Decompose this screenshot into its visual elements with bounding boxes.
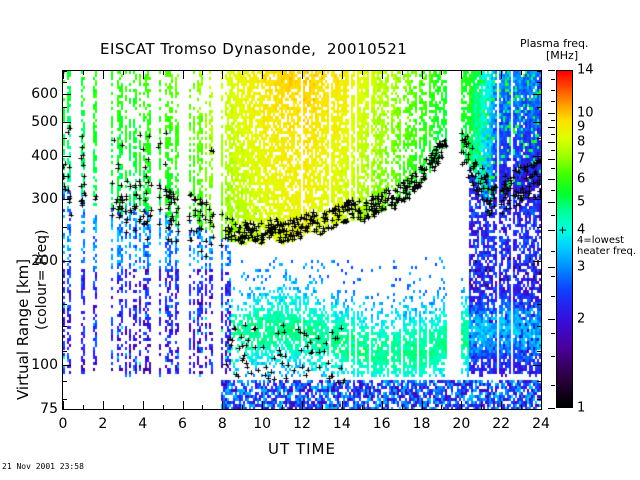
x-tick-mark [541,401,542,410]
x-minor-tick [282,405,283,410]
y-tick-mark-right [533,122,542,123]
x-minor-tick [402,405,403,410]
colorbar-minor-tick [551,276,555,277]
y-minor-tick-right [537,82,542,83]
x-tick-mark-top [382,70,383,79]
x-tick-mark [302,401,303,410]
y-minor-tick [62,326,67,327]
y-minor-tick-right [537,304,542,305]
y-tick-mark-right [533,156,542,157]
colorbar-tick-label: 7 [577,151,585,166]
colorbar-tick-mark [548,113,555,114]
x-minor-tick [242,405,243,410]
colorbar-tick-label: 5 [577,194,585,209]
y-tick-label: 75 [6,401,58,417]
x-minor-tick [362,405,363,410]
x-tick-mark [183,401,184,410]
x-tick-mark [342,401,343,410]
colorbar-tick-label: 2 [577,312,585,327]
x-tick-mark [222,401,223,410]
x-minor-tick [481,405,482,410]
colorbar[interactable] [556,70,573,408]
x-tick-label: 2 [88,416,118,432]
x-tick-label: 24 [526,416,556,432]
y-minor-tick-right [537,326,542,327]
x-tick-mark [63,401,64,410]
y-minor-tick [62,138,67,139]
x-tick-mark-top [461,70,462,79]
colorbar-minor-tick [551,356,555,357]
y-tick-mark-right [533,261,542,262]
colorbar-minor-tick [551,296,555,297]
colorbar-title-line2: [MHz] [520,50,640,62]
colorbar-tick-mark [548,202,555,203]
colorbar-tick-label: 9 [577,119,585,134]
y-tick-mark-right [533,365,542,366]
colorbar-tick-mark [548,230,555,231]
colorbar-tick-mark [548,159,555,160]
colorbar-tick-label: 1 [577,401,585,416]
x-tick-mark [461,401,462,410]
x-tick-mark-top [183,70,184,79]
x-minor-tick-top [163,70,164,75]
colorbar-tick-mark [548,319,555,320]
colorbar-minor-tick [551,134,555,135]
y-minor-tick [62,304,67,305]
colorbar-minor-tick [551,79,555,80]
y-minor-tick [62,82,67,83]
colorbar-tick-label: 3 [577,260,585,275]
x-minor-tick-top [123,70,124,75]
x-minor-tick-top [83,70,84,75]
y-tick-label: 300 [6,191,58,207]
page-title: EISCAT Tromso Dynasonde, 20010521 [100,40,520,58]
y-minor-tick-right [537,351,542,352]
y-tick-mark-right [533,94,542,95]
colorbar-minor-tick [551,101,555,102]
colorbar-minor-tick [551,385,555,386]
timestamp-stamp: 21 Nov 2001 23:58 [2,462,84,471]
y-axis-ticks: 60050040030020010075 [0,0,58,480]
colorbar-minor-tick [551,150,555,151]
y-minor-tick [62,351,67,352]
x-tick-mark [382,401,383,410]
y-tick-label: 200 [6,253,58,269]
x-tick-mark-top [422,70,423,79]
x-minor-tick [123,405,124,410]
colorbar-minor-tick [551,190,555,191]
colorbar-tick-label: 8 [577,134,585,149]
y-minor-tick-right [537,227,542,228]
y-tick-label: 100 [6,357,58,373]
y-minor-tick [62,176,67,177]
y-tick-mark [62,199,71,200]
colorbar-minor-tick [551,90,555,91]
x-minor-tick-top [521,70,522,75]
x-tick-label: 20 [446,416,476,432]
colorbar-tick-mark [548,179,555,180]
x-tick-mark-top [222,70,223,79]
colorbar-tick-mark [548,408,555,409]
y-tick-mark [62,156,71,157]
x-tick-label: 8 [207,416,237,432]
x-axis-label: UT TIME [0,440,604,458]
x-tick-label: 18 [407,416,437,432]
y-minor-tick-right [537,381,542,382]
ionogram-heatmap[interactable] [63,71,541,409]
y-minor-tick-right [537,107,542,108]
plot-area[interactable] [62,70,542,410]
colorbar-minor-tick [551,215,555,216]
colorbar-tick-mark [548,142,555,143]
y-tick-label: 500 [6,114,58,130]
x-minor-tick [521,405,522,410]
x-tick-mark-top [103,70,104,79]
colorbar-minor-tick [551,333,555,334]
colorbar-gradient [557,71,572,407]
x-tick-mark-top [262,70,263,79]
y-minor-tick [62,227,67,228]
y-minor-tick [62,381,67,382]
x-tick-mark-top [143,70,144,79]
y-tick-label: 600 [6,86,58,102]
y-tick-mark [62,94,71,95]
x-tick-mark-top [501,70,502,79]
x-tick-label: 12 [287,416,317,432]
x-minor-tick [202,405,203,410]
x-minor-tick-top [242,70,243,75]
x-tick-mark-top [541,70,542,79]
x-tick-label: 4 [128,416,158,432]
ionogram-figure: EISCAT Tromso Dynasonde, 20010521 Virtua… [0,0,640,480]
colorbar-tick-mark [548,267,555,268]
x-tick-mark [103,401,104,410]
colorbar-minor-tick [551,120,555,121]
colorbar-minor-tick [551,168,555,169]
x-minor-tick [163,405,164,410]
y-tick-mark [62,365,71,366]
colorbar-tick-label: 14 [577,63,594,78]
x-tick-mark-top [63,70,64,79]
x-tick-label: 14 [327,416,357,432]
colorbar-title-line1: Plasma freq. [520,38,640,50]
x-tick-mark [501,401,502,410]
x-minor-tick-top [402,70,403,75]
x-tick-mark-top [342,70,343,79]
colorbar-title: Plasma freq. [MHz] [520,38,640,62]
y-tick-mark [62,122,71,123]
colorbar-tick-mark [548,127,555,128]
y-minor-tick-right [537,176,542,177]
y-minor-tick [62,107,67,108]
x-minor-tick [83,405,84,410]
colorbar-minor-tick [551,251,555,252]
x-minor-tick [441,405,442,410]
colorbar-note: 4=lowest heater freq. [577,235,636,257]
x-tick-mark [422,401,423,410]
x-tick-label: 10 [247,416,277,432]
x-tick-label: 0 [48,416,78,432]
colorbar-tick-label: 6 [577,171,585,186]
x-minor-tick [322,405,323,410]
y-minor-tick-right [537,138,542,139]
colorbar-tick-mark [548,70,555,71]
x-minor-tick-top [282,70,283,75]
x-minor-tick-top [481,70,482,75]
x-tick-mark-top [302,70,303,79]
x-minor-tick-top [441,70,442,75]
y-tick-label: 400 [6,148,58,164]
x-minor-tick-top [362,70,363,75]
x-tick-mark [143,401,144,410]
x-minor-tick-top [322,70,323,75]
y-tick-mark-right [533,199,542,200]
x-tick-label: 22 [486,416,516,432]
colorbar-marker-plus: + [558,225,567,236]
y-tick-mark [62,261,71,262]
x-minor-tick-top [202,70,203,75]
x-tick-mark [262,401,263,410]
x-tick-label: 16 [367,416,397,432]
x-tick-label: 6 [168,416,198,432]
